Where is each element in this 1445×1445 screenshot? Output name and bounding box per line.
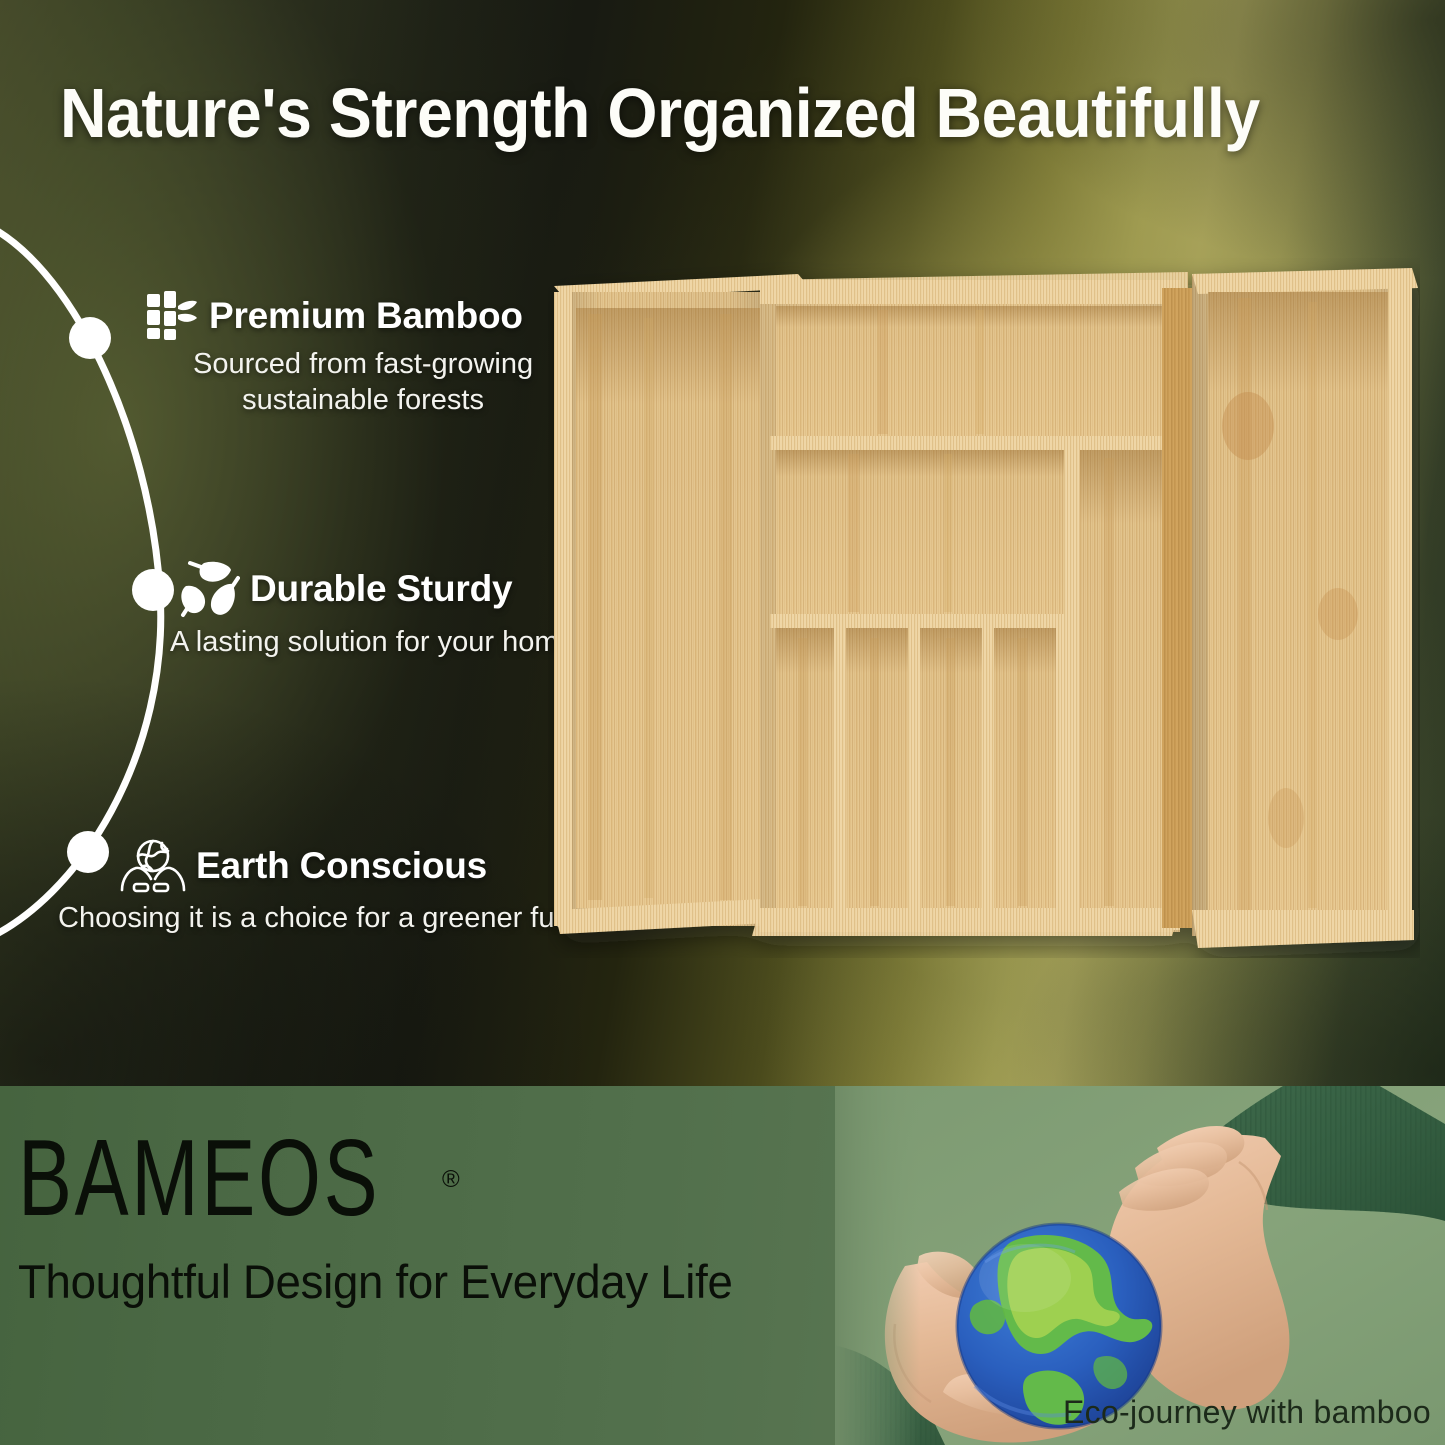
feature-item-premium-bamboo: Premium Bamboo Sourced from fast-growing…	[145, 290, 533, 419]
brand-tagline: Thoughtful Design for Everyday Life	[18, 1254, 733, 1309]
three-leaves-icon	[178, 560, 240, 618]
feature-heading-row: Earth Conscious	[120, 838, 604, 894]
feature-title: Premium Bamboo	[209, 295, 523, 337]
compartment-right-tall	[1078, 450, 1164, 912]
feature-description-line-1: Choosing it is a choice for a greener fu…	[58, 900, 604, 936]
hands-holding-globe-photo	[835, 1086, 1445, 1445]
compartment-middle-large	[776, 450, 1066, 616]
compartment-cutlery-slots	[776, 624, 1068, 916]
feature-title: Durable Sturdy	[250, 568, 512, 610]
bamboo-stalk-icon	[145, 290, 199, 342]
product-image-bamboo-drawer-organizer	[548, 258, 1420, 958]
feature-item-durable-sturdy: Durable Sturdy A lasting solution for yo…	[178, 560, 575, 660]
registered-trademark-icon: ®	[442, 1166, 460, 1194]
product-marketing-image: Nature's Strength Organized Beautifully	[0, 0, 1445, 1445]
brand-name: BAMEOS	[18, 1124, 380, 1233]
feature-description-line-1: Sourced from fast-growing	[193, 346, 533, 382]
organizer-right-wing	[1162, 268, 1418, 948]
organizer-center-tray	[752, 272, 1188, 936]
feature-heading-row: Premium Bamboo	[145, 290, 533, 342]
feature-description: Sourced from fast-growing sustainable fo…	[145, 346, 533, 419]
connector-dot-3	[67, 831, 109, 873]
compartment-top-large	[776, 306, 1164, 438]
brand-lockup: BAMEOS ® Thoughtful Design for Everyday …	[18, 1124, 755, 1309]
hero-top-panel: Nature's Strength Organized Beautifully	[0, 0, 1445, 1087]
feature-description-line-1: A lasting solution for your home	[170, 624, 575, 660]
feature-heading-row: Durable Sturdy	[178, 560, 575, 618]
feature-description: A lasting solution for your home	[170, 624, 575, 660]
connector-dot-2	[132, 569, 174, 611]
hands-holding-globe-icon	[120, 838, 186, 894]
feature-title: Earth Conscious	[196, 845, 487, 887]
feature-description: Choosing it is a choice for a greener fu…	[58, 900, 604, 936]
feature-description-line-2: sustainable forests	[193, 382, 533, 418]
eco-journey-caption: Eco-journey with bamboo	[1063, 1394, 1431, 1431]
page-title: Nature's Strength Organized Beautifully	[60, 78, 1284, 148]
feature-item-earth-conscious: Earth Conscious Choosing it is a choice …	[120, 838, 604, 936]
connector-dot-1	[69, 317, 111, 359]
brand-bottom-panel: BAMEOS ® Thoughtful Design for Everyday …	[0, 1086, 1445, 1445]
